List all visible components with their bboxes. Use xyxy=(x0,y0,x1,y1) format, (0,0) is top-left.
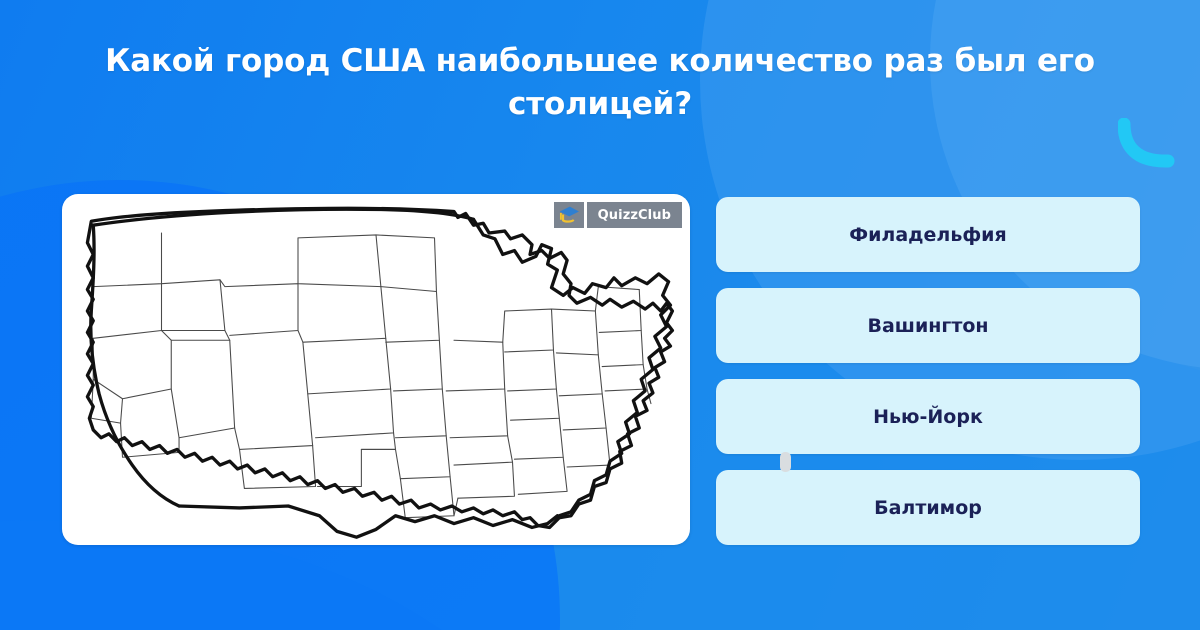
watermark-brand: QuizzClub xyxy=(587,202,682,228)
question-image-card: QuizzClub xyxy=(62,194,690,545)
answer-option-4-label: Балтимор xyxy=(874,497,982,519)
graduation-cap-icon xyxy=(554,202,584,228)
answer-option-1-label: Филадельфия xyxy=(849,224,1006,246)
answer-option-2-label: Вашингтон xyxy=(867,315,988,337)
answer-option-4[interactable]: Балтимор xyxy=(716,470,1140,545)
answer-option-2[interactable]: Вашингтон xyxy=(716,288,1140,363)
answer-options-list: Филадельфия Вашингтон Нью-Йорк Балтимор xyxy=(716,197,1140,545)
us-states-outline-map xyxy=(62,194,690,545)
answer-option-3-label: Нью-Йорк xyxy=(873,406,983,428)
watermark-badge: QuizzClub xyxy=(554,202,682,228)
scroll-nub xyxy=(780,452,791,472)
answer-option-1[interactable]: Филадельфия xyxy=(716,197,1140,272)
question-title: Какой город США наибольшее количество ра… xyxy=(60,40,1140,126)
quiz-card: Какой город США наибольшее количество ра… xyxy=(0,0,1200,630)
answer-option-3[interactable]: Нью-Йорк xyxy=(716,379,1140,454)
